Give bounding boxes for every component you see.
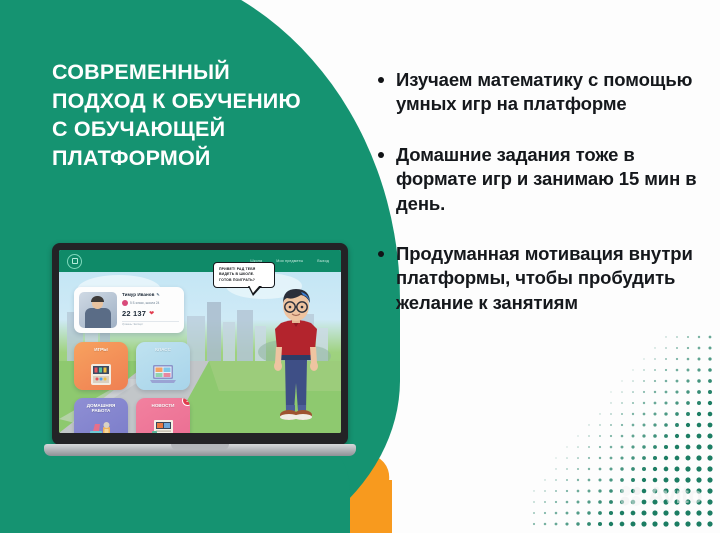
arcade-cabinet-icon bbox=[86, 361, 116, 387]
bullet-dot-icon bbox=[378, 251, 384, 257]
nav-link-logout[interactable]: Выход bbox=[317, 259, 329, 263]
bullet-dot-icon bbox=[378, 152, 384, 158]
bubble-line-3: ГОТОВ ПОИГРАТЬ? bbox=[219, 278, 270, 283]
bullet-text: Изучаем математику с помощью умных игр н… bbox=[396, 68, 698, 117]
promo-slide: СОВРЕМЕННЫЙ ПОДХОД К ОБУЧЕНИЮ С ОБУЧАЮЩЕ… bbox=[0, 0, 720, 533]
tile-homework[interactable]: ДОМАШНЯЯ РАБОТА bbox=[74, 398, 128, 433]
tile-label: КЛАСС bbox=[140, 347, 186, 352]
menu-tiles: ИГРЫ bbox=[74, 342, 190, 433]
heading-line-4: ПЛАТФОРМОЙ bbox=[52, 144, 322, 173]
bullet-text: Домашние задания тоже в формате игр и за… bbox=[396, 143, 698, 216]
laptop-icon bbox=[148, 361, 178, 387]
avito-brand-text: Avito bbox=[648, 482, 702, 509]
bullet-dot-icon bbox=[378, 77, 384, 83]
score-row: 22 137 ❤ bbox=[122, 309, 179, 318]
avatar bbox=[79, 292, 117, 328]
speech-bubble: ПРИВЕТ! РАД ТЕБЯ ВИДЕТЬ В ШКОЛЕ. ГОТОВ П… bbox=[213, 262, 275, 288]
user-name-row: Тимур Иванов ✎ bbox=[122, 292, 179, 297]
heading-line-1: СОВРЕМЕННЫЙ bbox=[52, 58, 322, 87]
laptop-lid: Школа Мои предметы Выход Тимур Иванов ✎ bbox=[52, 243, 348, 445]
tile-label: ДОМАШНЯЯ РАБОТА bbox=[78, 403, 124, 414]
boy-avatar-character bbox=[265, 287, 327, 429]
tile-label: НОВОСТИ bbox=[140, 403, 186, 408]
user-profile-card[interactable]: Тимур Иванов ✎ 5 Б класс, школа 24 22 13… bbox=[74, 287, 184, 333]
feature-bullet-list: Изучаем математику с помощью умных игр н… bbox=[378, 68, 698, 341]
page-title: СОВРЕМЕННЫЙ ПОДХОД К ОБУЧЕНИЮ С ОБУЧАЮЩЕ… bbox=[52, 58, 322, 172]
list-item: Изучаем математику с помощью умных игр н… bbox=[378, 68, 698, 117]
laptop-mockup: Школа Мои предметы Выход Тимур Иванов ✎ bbox=[44, 243, 356, 475]
app-navbar: Школа Мои предметы Выход bbox=[59, 250, 341, 272]
tile-games[interactable]: ИГРЫ bbox=[74, 342, 128, 390]
tile-class[interactable]: КЛАСС bbox=[136, 342, 190, 390]
progress-label: Уровень: Эксперт bbox=[122, 321, 179, 324]
school-logo-icon bbox=[67, 254, 82, 269]
heading-line-2: ПОДХОД К ОБУЧЕНИЮ bbox=[52, 87, 322, 116]
tile-label: ИГРЫ bbox=[78, 347, 124, 352]
list-item: Домашние задания тоже в формате игр и за… bbox=[378, 143, 698, 216]
status-badge: 3 bbox=[182, 398, 190, 406]
class-dot-icon bbox=[122, 300, 128, 306]
user-name: Тимур Иванов bbox=[122, 292, 154, 297]
desk-lamp-icon bbox=[86, 417, 116, 433]
laptop-notch bbox=[171, 444, 229, 450]
pencil-icon[interactable]: ✎ bbox=[156, 292, 159, 297]
heading-line-3: С ОБУЧАЮЩЕЙ bbox=[52, 115, 322, 144]
list-item: Продуманная мотивация внутри платформы, … bbox=[378, 242, 698, 315]
bullet-text: Продуманная мотивация внутри платформы, … bbox=[396, 242, 698, 315]
newspaper-icon bbox=[148, 417, 178, 433]
avito-watermark: Avito bbox=[619, 482, 702, 509]
tile-news[interactable]: 3 НОВОСТИ bbox=[136, 398, 190, 433]
avito-logo-icon bbox=[619, 485, 645, 507]
user-class-row: 5 Б класс, школа 24 bbox=[122, 300, 179, 306]
nav-link-subjects[interactable]: Мои предметы bbox=[276, 259, 303, 263]
user-class-label: 5 Б класс, школа 24 bbox=[130, 301, 159, 305]
heart-icon: ❤ bbox=[149, 310, 154, 317]
laptop-screen: Школа Мои предметы Выход Тимур Иванов ✎ bbox=[59, 250, 341, 433]
score-value: 22 137 bbox=[122, 309, 146, 318]
